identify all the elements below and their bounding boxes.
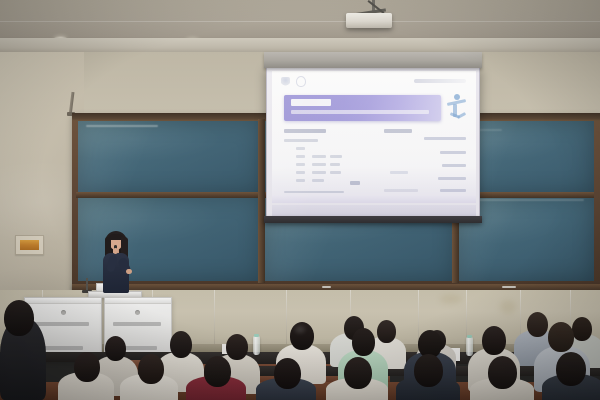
slide-table-label <box>384 129 412 133</box>
chalk-smear-1 <box>86 125 158 127</box>
blackboard-panel-1 <box>78 121 260 193</box>
slide-section-heading <box>284 129 326 133</box>
slide-table-total <box>350 181 360 185</box>
water-bottle-2 <box>466 337 473 356</box>
projection-screen <box>266 66 480 218</box>
slide-right-note-5 <box>440 189 466 192</box>
audience-head-f3 <box>138 354 164 384</box>
wainscot-seam-3 <box>214 290 215 352</box>
slide-table-cell-r3c3 <box>330 163 340 166</box>
wall-stain-2 <box>500 300 516 314</box>
slide-table-cell-r2c3 <box>330 155 342 158</box>
cabinet-right-top <box>105 298 171 304</box>
slide-table-cell-r5c2 <box>312 179 324 182</box>
slide-table-rule-2 <box>284 191 344 193</box>
audience-head-m5 <box>482 326 506 355</box>
presenter-hand-right <box>126 269 132 274</box>
slide-table-cell-r2c1 <box>296 155 305 158</box>
chalk-piece-2 <box>322 286 331 288</box>
wainscot-seam-4 <box>286 290 287 352</box>
slide-right-note-7 <box>384 189 418 192</box>
slide-footer-band <box>272 195 476 203</box>
slide-table-cell-r3c1 <box>296 163 305 166</box>
audience-head-f1 <box>4 300 34 336</box>
water-bottle-1-cap <box>254 334 259 337</box>
slide-banner-title <box>291 99 331 106</box>
slide-table-cell-r5c1 <box>296 179 305 182</box>
lecture-hall-scene <box>0 0 600 400</box>
ceiling <box>0 0 600 40</box>
chalk-smear-3 <box>464 199 584 201</box>
slide-right-note-4 <box>438 177 466 180</box>
audience-head-m8 <box>105 336 126 361</box>
slide-table-cell-r3c2 <box>312 163 326 166</box>
audience-head-b2 <box>377 320 396 343</box>
slide-banner-subtitle <box>291 110 429 114</box>
slide-logo-icon <box>281 77 290 86</box>
chalk-piece-3 <box>502 286 516 288</box>
cabinet-left-label-strip <box>33 322 89 326</box>
ceiling-seam <box>0 21 600 22</box>
audience-head-f4 <box>204 356 231 387</box>
audience-head-f8 <box>488 356 517 389</box>
cabinet-right-label-strip <box>113 322 161 326</box>
slide-figure-icon <box>445 93 469 123</box>
slide-right-note-3 <box>442 164 466 167</box>
cabinet-left-handle <box>61 310 66 315</box>
presenter-hand-left <box>113 248 118 254</box>
presenter <box>98 231 134 293</box>
audience-head-m6 <box>548 322 574 352</box>
slide-table-cell-r4c2 <box>312 171 326 174</box>
slide-right-note-2 <box>440 151 466 154</box>
water-bottle-1 <box>253 336 260 355</box>
projector <box>346 13 392 28</box>
audience-head-f6 <box>344 357 372 389</box>
slide-table-cell-r1c1 <box>296 147 305 150</box>
slide-banner <box>284 95 441 121</box>
slide-table-cell-r2c2 <box>312 155 326 158</box>
audience-head-m1 <box>290 322 314 350</box>
slide-right-note-6 <box>390 171 408 174</box>
slide-right-note-1 <box>424 137 466 140</box>
audience-head-f2 <box>74 352 100 382</box>
slide-table-cell-r4c3 <box>330 171 341 174</box>
slide-header-rule <box>414 79 466 83</box>
audience-head-m2 <box>170 331 192 358</box>
audience-head-f9 <box>556 352 586 386</box>
screen-valance <box>264 52 482 68</box>
wall-stain-1 <box>440 294 462 304</box>
audience-head-f5 <box>274 358 301 389</box>
audience-head-m7 <box>226 334 248 360</box>
wall-notice-sign <box>15 235 44 255</box>
cabinet-left-top <box>25 298 101 304</box>
audience-head-f7 <box>414 354 443 387</box>
slide-content <box>272 71 476 203</box>
slide-logo-secondary-icon <box>296 76 306 87</box>
screen-weight-bar <box>264 216 482 223</box>
audience-head-m3 <box>352 328 375 356</box>
water-bottle-2-cap <box>467 335 472 338</box>
cabinet-right-handle <box>135 310 140 315</box>
blackboard-divider-vertical-1 <box>258 119 265 283</box>
slide-table-rule-1 <box>284 139 318 142</box>
audience-head-b3 <box>527 312 548 337</box>
slide-table-cell-r4c1 <box>296 171 305 174</box>
audience-head-b4 <box>572 317 592 341</box>
